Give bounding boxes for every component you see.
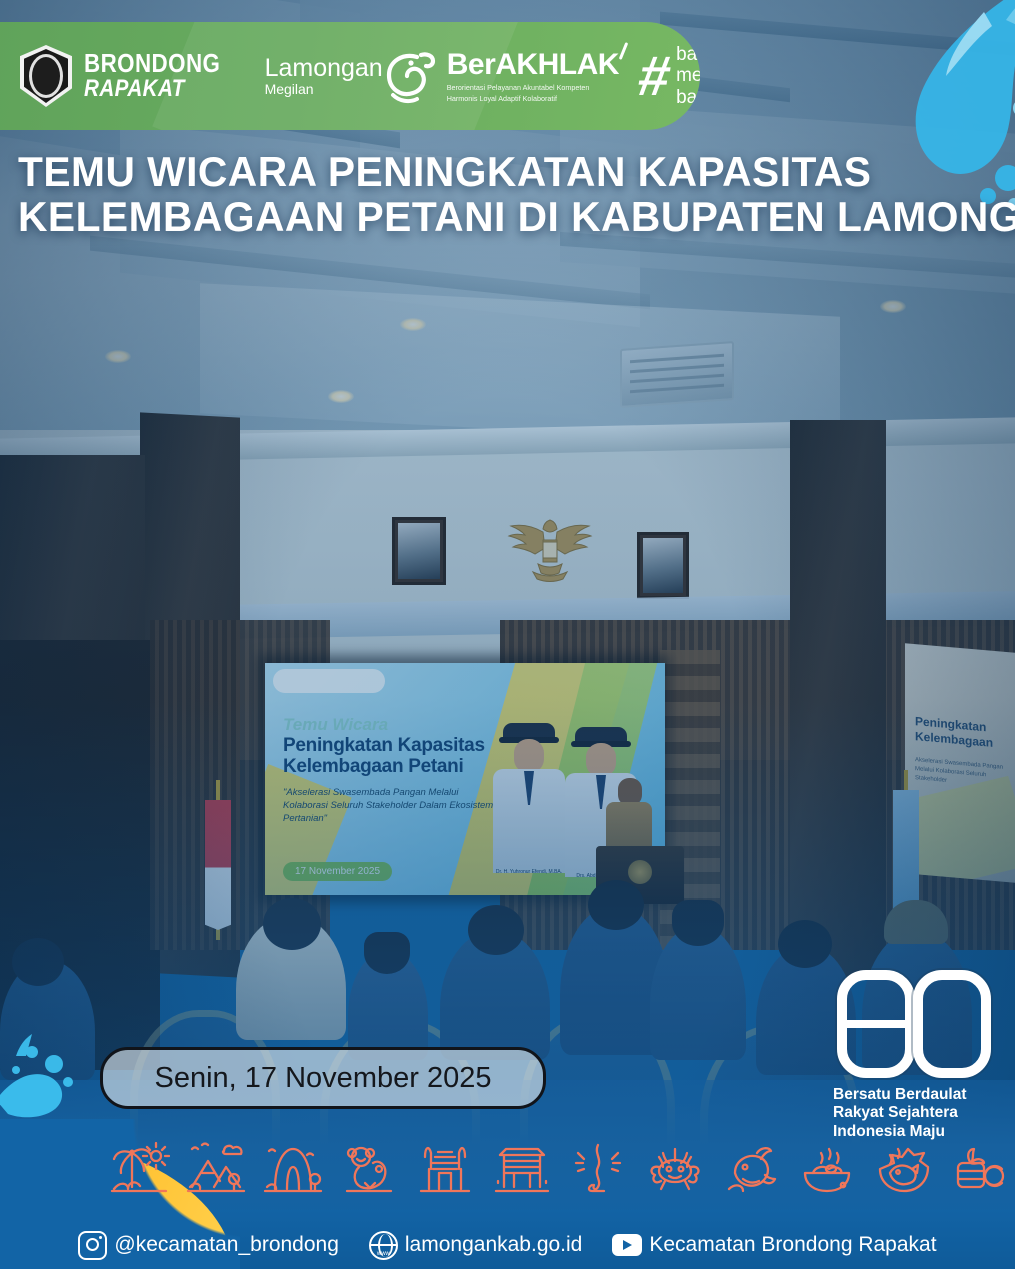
globe-www-icon: www: [369, 1231, 398, 1260]
bangga-line-2: melayani: [676, 65, 700, 86]
culture-icon-row: [110, 1130, 1010, 1210]
youtube-channel: Kecamatan Brondong Rapakat: [649, 1233, 936, 1257]
brand-wordmark: BRONDONG RAPAKAT: [84, 52, 243, 100]
instagram-icon: [78, 1231, 107, 1260]
footer-youtube[interactable]: Kecamatan Brondong Rapakat: [612, 1233, 936, 1257]
brand-line-2: RAPAKAT: [84, 78, 220, 100]
traditional-gate-icon: [415, 1139, 475, 1201]
bangga-melayani-bangsa-logo: # bangga melayani bangsa: [639, 44, 700, 108]
event-date-badge: Senin, 17 November 2025: [100, 1047, 546, 1109]
soto-bowl-icon: [797, 1139, 857, 1201]
website-url: lamongankab.go.id: [405, 1233, 582, 1257]
berakhlak-logo: BerAKHLAK Berorientasi Pelayanan Akuntab…: [447, 48, 619, 104]
header-band: BRONDONG RAPAKAT Lamongan Megilan B: [0, 22, 700, 130]
title-line-2: KELEMBAGAAN PETANI DI KABUPATEN LAMONGAN: [18, 195, 949, 240]
anniversary-tagline-1: Bersatu Berdaulat: [833, 1086, 993, 1104]
keris-dagger-icon: [568, 1139, 628, 1201]
lamongan-line-1: Lamongan: [265, 56, 383, 81]
cave-gate-icon: [263, 1139, 323, 1201]
berakhlak-sub-2: Harmonis Loyal Adaptif Kolaboratif: [447, 94, 619, 104]
fish-bandeng-icon: [721, 1139, 781, 1201]
anniversary-number: [837, 970, 993, 1078]
footer-website[interactable]: www lamongankab.go.id: [369, 1231, 582, 1260]
page-title: TEMU WICARA PENINGKATAN KAPASITAS KELEMB…: [18, 150, 978, 240]
footer-instagram[interactable]: @kecamatan_brondong: [78, 1231, 338, 1260]
event-date-text: Senin, 17 November 2025: [155, 1062, 492, 1095]
hashtag-icon: #: [635, 54, 673, 99]
youtube-icon: [612, 1234, 642, 1256]
lamongan-wordmark: Lamongan Megilan: [265, 56, 383, 96]
lamongan-mermaid-batik-icon: [373, 45, 439, 107]
palm-tree-beach-icon: [110, 1139, 170, 1201]
berakhlak-sub-1: Berorientasi Pelayanan Akuntabel Kompete…: [447, 83, 619, 93]
anniversary-logo: Bersatu Berdaulat Rakyat Sejahtera Indon…: [833, 970, 993, 1141]
grilled-fish-plate-icon: [874, 1139, 934, 1201]
crab-icon: [645, 1139, 705, 1201]
footer-social-bar: @kecamatan_brondong www lamongankab.go.i…: [0, 1222, 1015, 1268]
anniversary-tagline-2: Rakyat Sejahtera: [833, 1104, 993, 1122]
lamongan-shield-emblem-icon: [20, 45, 72, 107]
brand-line-1: BRONDONG: [84, 52, 220, 76]
digit-eight-icon: [837, 970, 915, 1078]
instagram-handle: @kecamatan_brondong: [114, 1233, 338, 1257]
digit-zero-icon: [913, 970, 991, 1078]
lamongan-line-2: Megilan: [265, 82, 383, 96]
bangga-line-3: bangsa: [676, 87, 700, 108]
berakhlak-title: BerAKHLAK: [447, 48, 619, 82]
pendopo-building-icon: [492, 1139, 552, 1201]
mountain-cloud-icon: [186, 1139, 246, 1201]
poster: Peningkatan Kelembagaan Akselerasi Swase…: [0, 0, 1015, 1269]
wingko-cake-icon: [950, 1139, 1010, 1201]
title-line-1: TEMU WICARA PENINGKATAN KAPASITAS: [18, 150, 949, 195]
monkey-icon: [339, 1139, 399, 1201]
berakhlak-tick-icon: [619, 42, 629, 60]
bangga-line-1: bangga: [676, 44, 700, 65]
